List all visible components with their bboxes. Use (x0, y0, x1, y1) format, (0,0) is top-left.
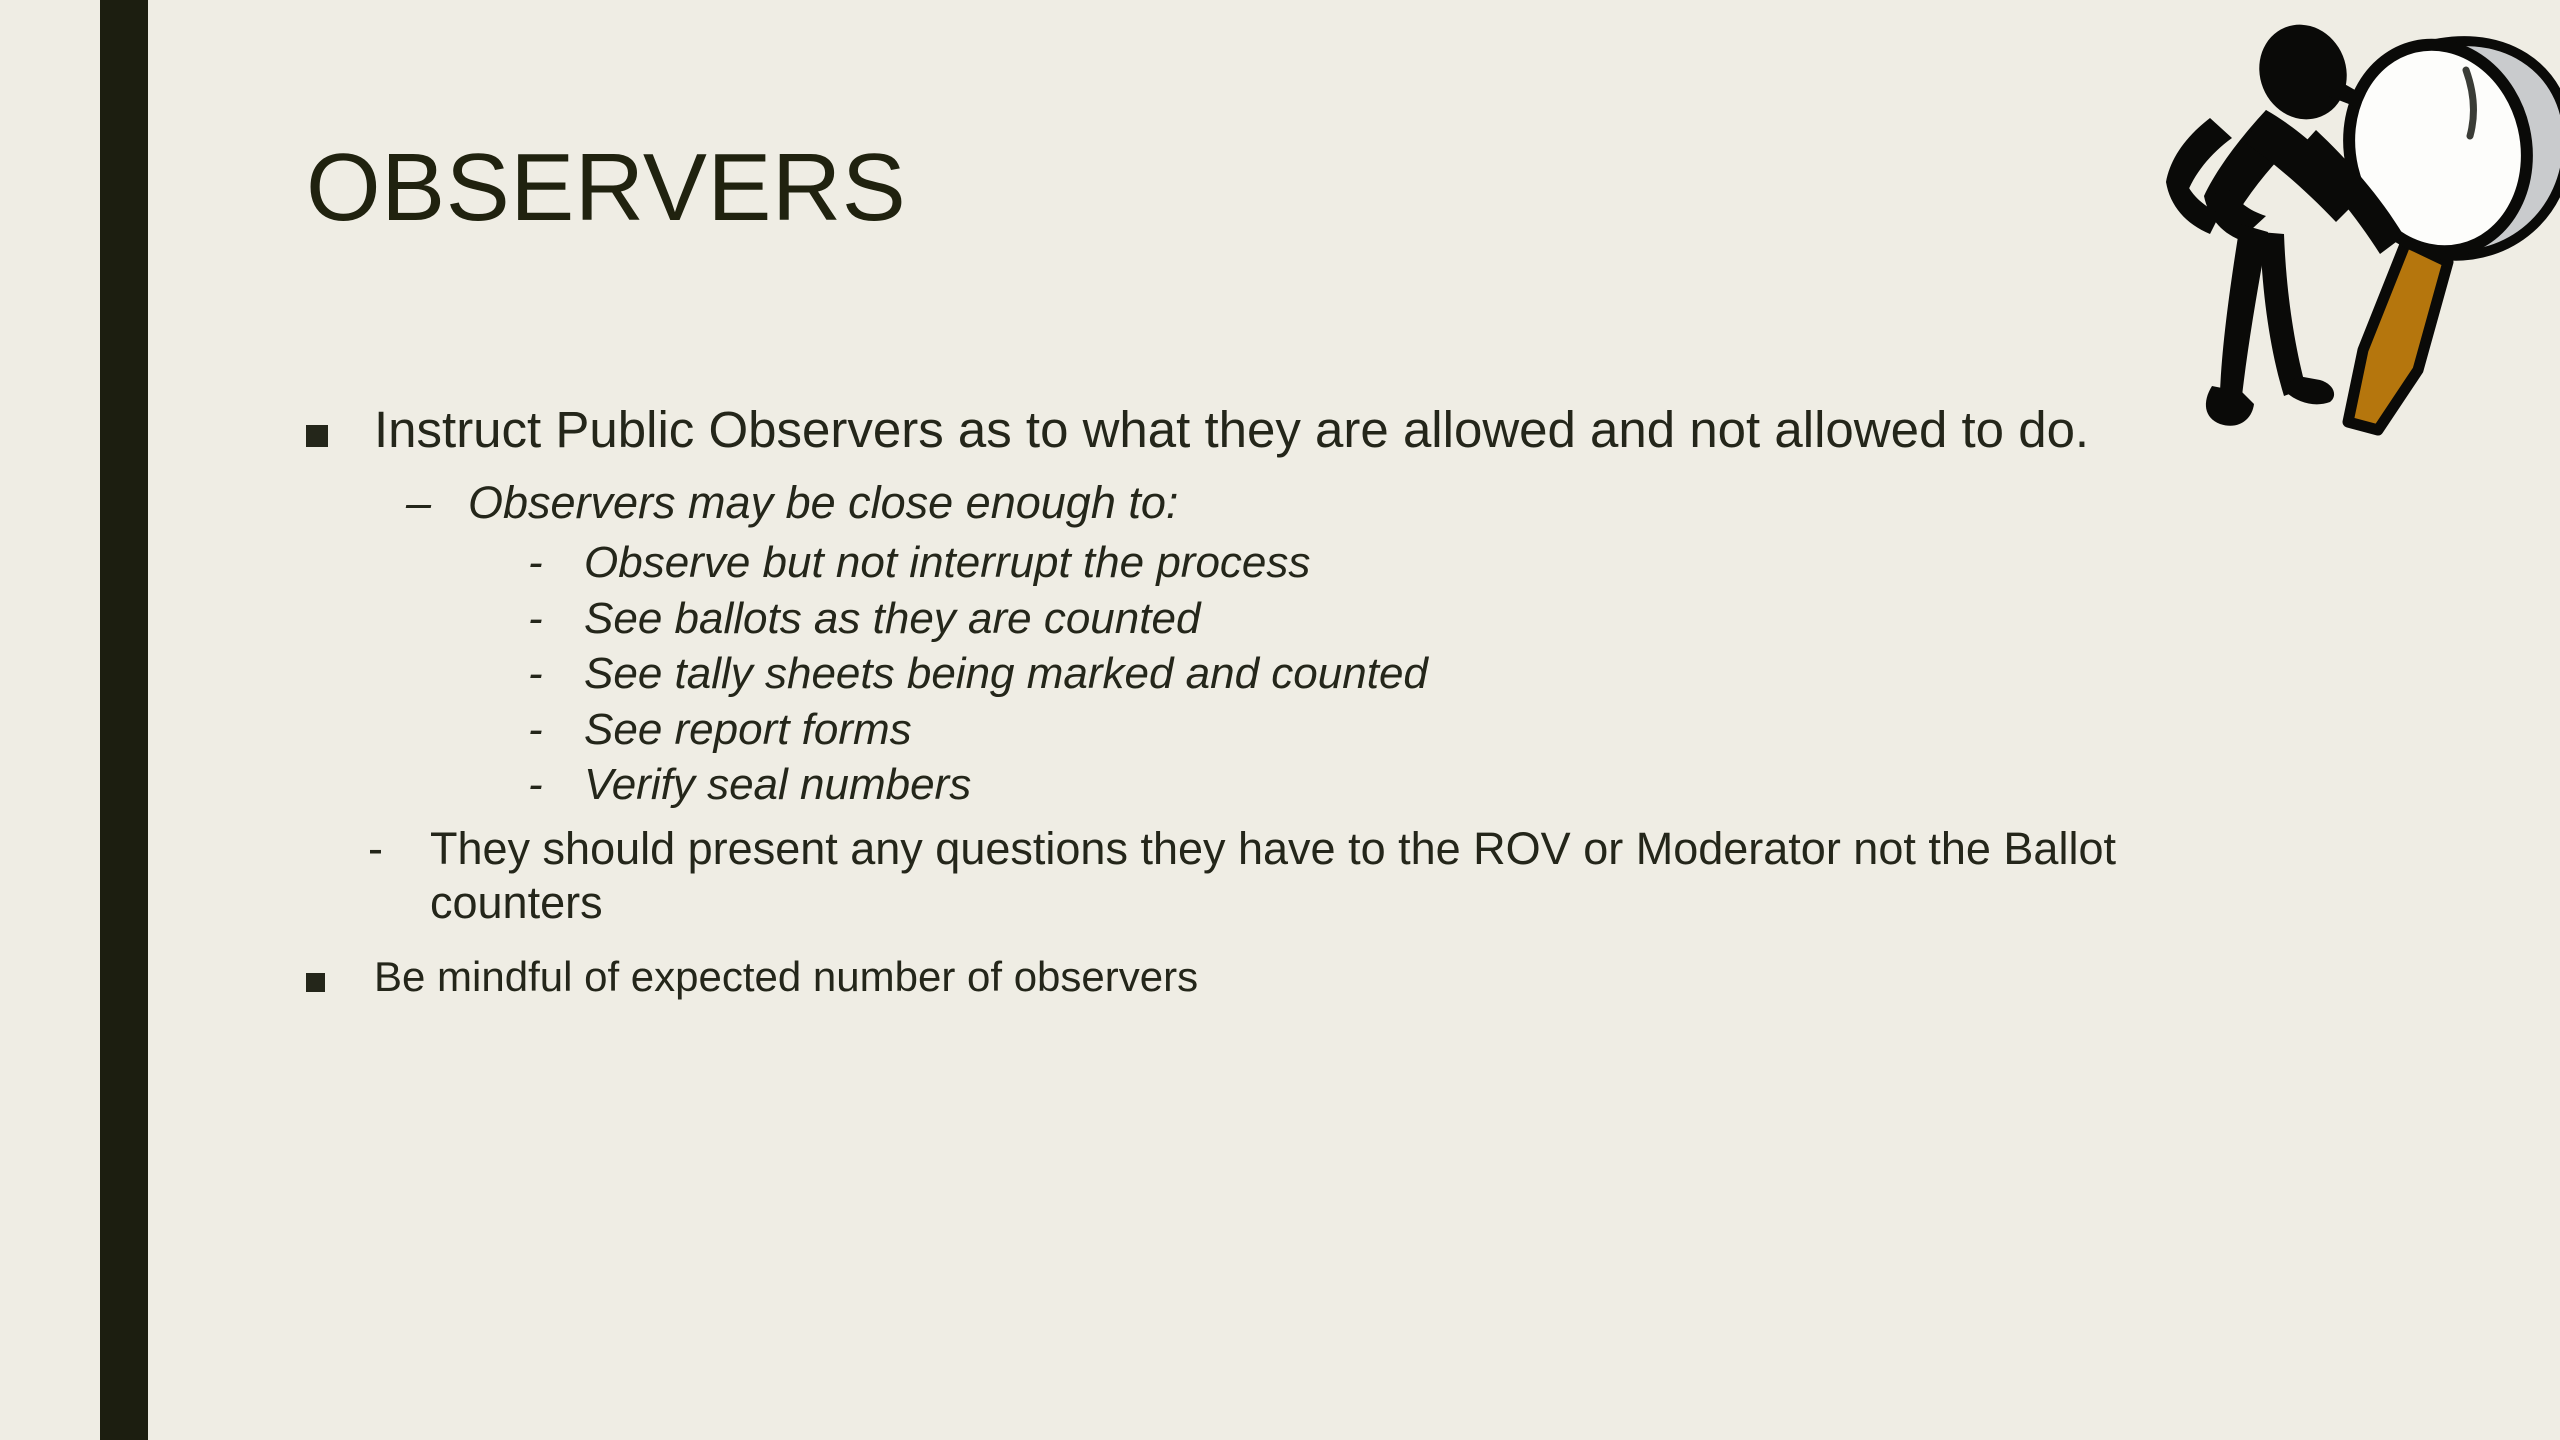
bullet-level3-text: Verify seal numbers (584, 757, 2316, 812)
page-title: OBSERVERS (306, 140, 906, 236)
left-accent-bar (100, 0, 148, 1440)
hyphen-bullet-icon: - (528, 535, 584, 590)
hyphen-bullet-icon: - (528, 646, 584, 701)
hyphen-bullet-icon: - (528, 702, 584, 757)
bullet-level3-item: - Observe but not interrupt the process (528, 535, 2316, 590)
bullet-level1-text: Instruct Public Observers as to what the… (374, 400, 2244, 460)
bullet-level3-text: See tally sheets being marked and counte… (584, 646, 2316, 701)
bullet-level3-item: - See report forms (528, 702, 2316, 757)
bullet-level2-item: – Observers may be close enough to: (406, 476, 2316, 529)
hyphen-bullet-icon: - (528, 757, 584, 812)
slide-observers: OBSERVERS Instruct Public Observers as t… (0, 0, 2560, 1440)
bullet-level2-item-rov: - They should present any questions they… (368, 822, 2316, 930)
hyphen-bullet-icon: - (368, 822, 430, 876)
bullet-level3-text: Observe but not interrupt the process (584, 535, 2316, 590)
bullet-level1-last-text: Be mindful of expected number of observe… (374, 952, 2316, 1002)
bullet-level1-item: Instruct Public Observers as to what the… (306, 400, 2316, 460)
hyphen-bullet-icon: - (528, 591, 584, 646)
square-bullet-icon (306, 402, 374, 462)
bullet-level1-item-last: Be mindful of expected number of observe… (306, 952, 2316, 1002)
bullet-level2-rov-text: They should present any questions they h… (430, 822, 2260, 930)
bullet-level3-item: - See ballots as they are counted (528, 591, 2316, 646)
bullet-level2-text: Observers may be close enough to: (468, 476, 2316, 529)
bullet-level3-group: - Observe but not interrupt the process … (306, 535, 2316, 812)
dash-bullet-icon: – (406, 476, 468, 529)
square-bullet-icon (306, 955, 374, 1005)
bullet-level3-item: - See tally sheets being marked and coun… (528, 646, 2316, 701)
bullet-level3-text: See ballots as they are counted (584, 591, 2316, 646)
slide-body: Instruct Public Observers as to what the… (306, 400, 2316, 1002)
bullet-level3-text: See report forms (584, 702, 2316, 757)
bullet-level3-item: - Verify seal numbers (528, 757, 2316, 812)
